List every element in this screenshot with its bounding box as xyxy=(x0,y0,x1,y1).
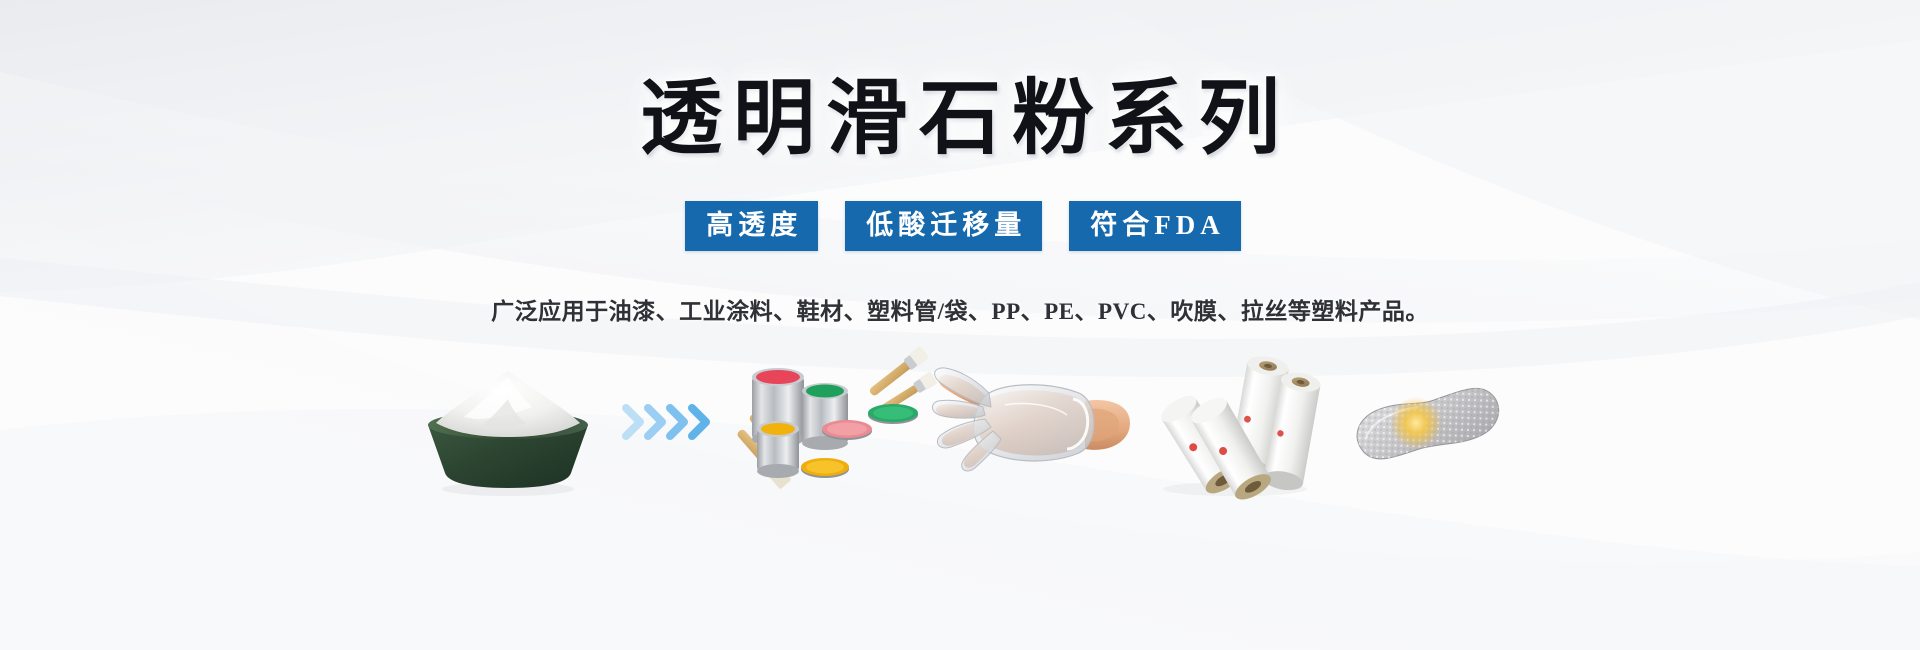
sole-glow-highlight xyxy=(1390,397,1442,449)
badge-fda-compliant: 符合FDA xyxy=(1069,201,1241,251)
chevron-1-icon xyxy=(626,408,640,436)
product-image-strip xyxy=(400,347,1520,497)
talc-powder-bowl-image xyxy=(400,347,615,497)
application-description: 广泛应用于油漆、工业涂料、鞋材、塑料管/袋、PP、PE、PVC、吹膜、拉丝等塑料… xyxy=(491,292,1429,326)
shoe-sole-image xyxy=(1335,347,1520,497)
product-banner: 透明滑石粉系列 高透度 低酸迁移量 符合FDA 广泛应用于油漆、工业涂料、鞋材、… xyxy=(0,0,1920,650)
plastic-glove-hand-image xyxy=(930,347,1135,497)
chevron-4-icon xyxy=(692,408,706,436)
page-title: 透明滑石粉系列 xyxy=(629,78,1291,160)
chevron-3-icon xyxy=(670,408,684,436)
badge-low-acid-migration: 低酸迁移量 xyxy=(845,201,1042,251)
chevron-2-icon xyxy=(648,408,662,436)
paint-can-green xyxy=(802,383,848,450)
banner-content: 透明滑石粉系列 高透度 低酸迁移量 符合FDA 广泛应用于油漆、工业涂料、鞋材、… xyxy=(0,0,1920,650)
badge-high-transparency: 高透度 xyxy=(685,201,818,251)
feature-badge-row: 高透度 低酸迁移量 符合FDA xyxy=(679,201,1241,251)
arrow-chevrons-icon xyxy=(615,347,725,497)
paint-cans-image xyxy=(725,347,930,497)
plastic-film-rolls-image xyxy=(1135,347,1335,497)
paint-can-yellow xyxy=(757,421,799,478)
